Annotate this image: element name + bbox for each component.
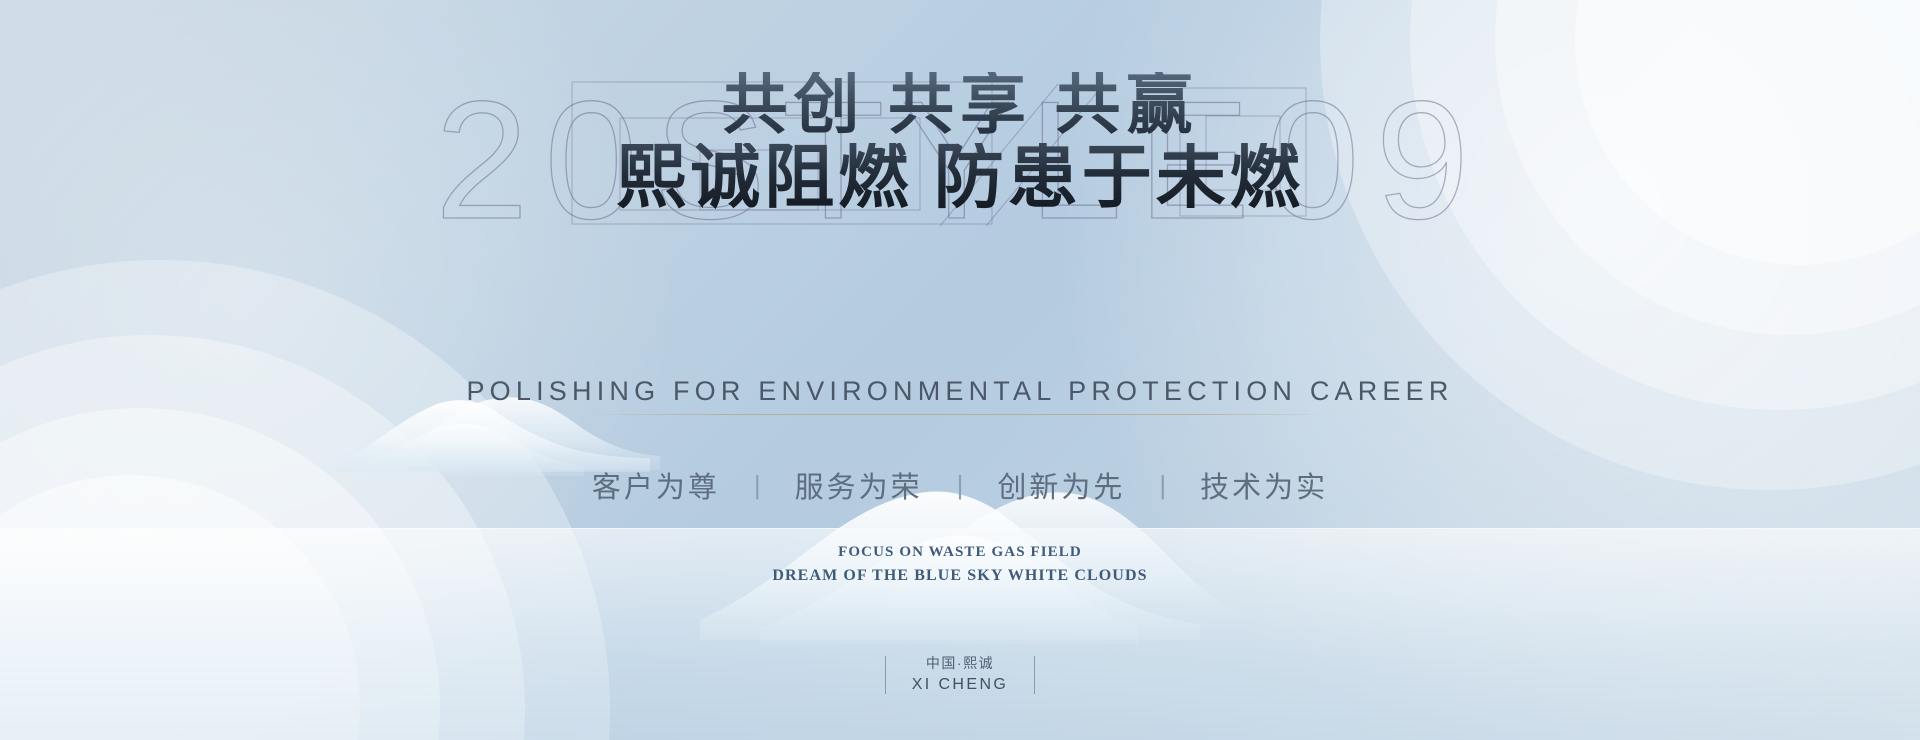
value-item-4: 技术为实 [1166,464,1362,506]
decor-ring-top-right-4 [1575,0,1920,265]
tagline-english: POLISHING FOR ENVIRONMENTAL PROTECTION C… [0,376,1920,407]
cloud-shapes [0,0,1920,740]
value-item-3: 创新为先 [963,464,1159,506]
value-item-1: 客户为尊 [558,464,754,506]
logo-text: 中国·熙诚 XI CHENG [912,653,1009,696]
light-glow-left [0,0,700,740]
decor-ring-top-right-2 [1410,0,1920,410]
logo-lockup: 中国·熙诚 XI CHENG [0,653,1920,696]
value-separator-1: | [754,472,761,498]
decor-ring-bottom-left-4 [0,475,360,740]
subslogan-line-1: FOCUS ON WASTE GAS FIELD [0,542,1920,564]
decor-ring-top-right-3 [1495,0,1920,335]
value-list: 客户为尊 | 服务为荣 | 创新为先 | 技术为实 [0,464,1920,506]
decor-outline-shapes [0,0,1920,740]
subslogan-block: FOCUS ON WASTE GAS FIELD DREAM OF THE BL… [0,542,1920,587]
value-separator-3: | [1159,472,1166,498]
banner-hero: 20STYLE09 共创 共享 共赢 熙诚阻燃 防患于未燃 [0,0,1920,740]
headline-line-2: 熙诚阻燃 防患于未燃 [0,143,1920,216]
logo-name-en: XI CHENG [912,674,1009,696]
logo-divider-left [885,656,886,694]
headline-block: 共创 共享 共赢 熙诚阻燃 防患于未燃 [0,72,1920,215]
decor-ring-bottom-left-1 [0,260,610,740]
light-glow-top-right [1060,0,1920,740]
tagline-divider [590,414,1330,415]
background-wordmark: 20STYLE09 [435,76,1485,244]
subslogan-line-2: DREAM OF THE BLUE SKY WHITE CLOUDS [0,564,1920,587]
value-item-2: 服务为荣 [761,464,957,506]
decor-ring-top-right-1 [1320,0,1920,490]
decor-ring-bottom-left-2 [0,335,525,740]
logo-name-cn: 中国·熙诚 [912,653,1009,674]
value-separator-2: | [957,472,964,498]
logo-divider-right [1034,656,1035,694]
horizon-plate [0,528,1920,740]
decor-ring-bottom-left-3 [0,408,440,740]
headline-line-1: 共创 共享 共赢 [0,72,1920,141]
